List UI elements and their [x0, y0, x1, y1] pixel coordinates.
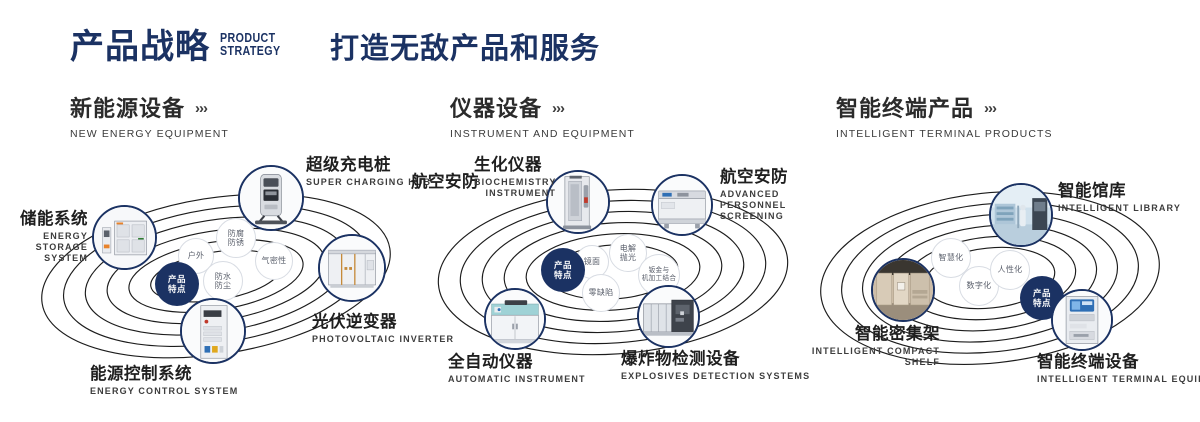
- feature-bubble-label: 防腐: [228, 229, 245, 239]
- screening-machine-icon: [653, 176, 711, 234]
- core-badge-line2: 特点: [168, 284, 186, 294]
- feature-bubble-label: 防锈: [228, 238, 245, 248]
- node-label-advanced-personnel-screening: 航空安防 ADVANCED PERSONNEL SCREENING: [720, 168, 810, 222]
- node-label-cn: 智能终端设备: [1037, 353, 1200, 372]
- section-heading-cn-2: 智能终端产品 ›››: [836, 96, 1053, 122]
- core-badge-line2: 特点: [1033, 298, 1051, 308]
- node-label-en: ENERGY STORAGE SYSTEM: [0, 231, 88, 264]
- node-intelligent-compact-shelf[interactable]: [871, 258, 935, 322]
- feature-bubble-label: 人性化: [998, 265, 1023, 275]
- chevron-right-triple-icon: ›››: [984, 96, 996, 122]
- section-heading-cn-text-2: 智能终端产品: [836, 96, 974, 122]
- cluster-intelligent-terminal: 智慧化 数字化 人性化 产品 特点: [800, 150, 1200, 412]
- feature-bubble-label: 防尘: [215, 281, 232, 291]
- feature-bubble-label: 机加工结合: [642, 275, 676, 283]
- node-label-energy-storage-system: 储能系统 ENERGY STORAGE SYSTEM: [0, 210, 88, 264]
- node-label-intelligent-terminal-equipment: 智能终端设备 INTELLIGENT TERMINAL EQUIPMENT: [1037, 353, 1200, 385]
- chevron-right-triple-icon: ›››: [195, 96, 207, 122]
- feature-bubble-zero-defect: 零缺陷: [582, 274, 620, 312]
- feature-bubble-label: 气密性: [262, 256, 287, 266]
- chevron-right-triple-icon: ›››: [552, 96, 564, 122]
- feature-bubble-label: 智慧化: [939, 253, 964, 263]
- feature-bubble-airtightness: 气密性: [255, 242, 293, 280]
- energy-storage-cabinet-icon: [94, 207, 155, 268]
- node-label-energy-control-system: 能源控制系统 ENERGY CONTROL SYSTEM: [90, 365, 238, 397]
- node-label-en: BIOCHEMISTRY INSTRUMENT: [474, 177, 556, 199]
- node-photovoltaic-inverter[interactable]: [318, 234, 386, 302]
- node-label-en: AUTOMATIC INSTRUMENT: [448, 374, 586, 385]
- node-label-cn: 爆炸物检测设备: [621, 350, 810, 369]
- core-badge-line1: 产品: [1033, 288, 1051, 298]
- node-label-intelligent-library: 智能馆库 INTELLIGENT LIBRARY: [1058, 182, 1181, 214]
- node-explosives-detection[interactable]: [637, 285, 700, 348]
- cluster-instrument: 镜面 电解 抛光 钣金与 机加工结合 零缺陷 产品 特点 航空安防: [410, 150, 810, 412]
- node-label-cn: 能源控制系统: [90, 365, 238, 384]
- section-heading-instrument: 仪器设备 ››› INSTRUMENT AND EQUIPMENT: [450, 96, 635, 140]
- core-badge-line1: 产品: [554, 260, 572, 270]
- section-heading-cn-text-0: 新能源设备: [70, 96, 185, 122]
- node-intelligent-terminal-equipment[interactable]: [1051, 289, 1113, 351]
- section-heading-en-1: INSTRUMENT AND EQUIPMENT: [450, 128, 635, 140]
- feature-bubble-label: 电解: [620, 244, 637, 254]
- page-title: 产品战略: [70, 28, 210, 66]
- section-heading-cn-0: 新能源设备 ›››: [70, 96, 229, 122]
- smart-library-room-icon: [991, 185, 1051, 245]
- inverter-cabinet-icon: [320, 236, 384, 300]
- node-label-cn: 储能系统: [0, 210, 88, 229]
- feature-bubble-label: 户外: [188, 251, 205, 261]
- node-label-intelligent-compact-shelf: 智能密集架 INTELLIGENT COMPACT SHELF: [795, 325, 940, 368]
- explosives-detector-icon: [639, 287, 698, 346]
- product-strategy-infographic: 产品战略 PRODUCT STRATEGY 打造无敌产品和服务 新能源设备 ››…: [0, 0, 1200, 422]
- node-label-automatic-instrument: 全自动仪器 AUTOMATIC INSTRUMENT: [448, 353, 586, 385]
- section-heading-intelligent-terminal: 智能终端产品 ››› INTELLIGENT TERMINAL PRODUCTS: [836, 96, 1053, 140]
- node-label-cn: 智能馆库: [1058, 182, 1181, 201]
- node-label-cn: 航空安防: [411, 173, 479, 192]
- biochemistry-scanner-icon: [548, 172, 608, 232]
- charging-pile-icon: [240, 167, 302, 229]
- page-title-english-line2: STRATEGY: [220, 44, 281, 57]
- node-label-aviation-security-left: 航空安防: [411, 173, 479, 192]
- feature-bubble-label: 防水: [215, 272, 232, 282]
- node-label-cn: 智能密集架: [795, 325, 940, 344]
- cluster-new-energy: 户外 防腐 防锈 防水 防尘 气密性 产品 特点: [20, 150, 420, 412]
- node-super-charging-hub[interactable]: [238, 165, 304, 231]
- feature-bubble-label: 镜面: [584, 257, 601, 267]
- feature-bubble-label: 抛光: [620, 253, 637, 263]
- self-service-kiosk-icon: [1053, 291, 1111, 349]
- node-label-cn: 全自动仪器: [448, 353, 586, 372]
- page-slogan: 打造无敌产品和服务: [330, 30, 600, 68]
- feature-bubble-label: 数字化: [967, 281, 992, 291]
- control-cabinet-icon: [182, 300, 244, 362]
- compact-shelf-icon: [873, 260, 933, 320]
- node-label-en: EXPLOSIVES DETECTION SYSTEMS: [621, 371, 810, 382]
- node-label-cn: 生化仪器: [474, 156, 556, 175]
- node-intelligent-library[interactable]: [989, 183, 1053, 247]
- section-heading-new-energy: 新能源设备 ››› NEW ENERGY EQUIPMENT: [70, 96, 229, 140]
- node-automatic-instrument[interactable]: [484, 288, 546, 350]
- automatic-analyzer-icon: [486, 290, 544, 348]
- section-heading-en-0: NEW ENERGY EQUIPMENT: [70, 128, 229, 140]
- node-label-en: ENERGY CONTROL SYSTEM: [90, 386, 238, 397]
- page-header: 产品战略 PRODUCT STRATEGY: [70, 28, 294, 66]
- feature-bubble-waterproof: 防水 防尘: [203, 261, 243, 301]
- section-heading-en-2: INTELLIGENT TERMINAL PRODUCTS: [836, 128, 1053, 140]
- node-advanced-personnel-screening[interactable]: [651, 174, 713, 236]
- node-label-explosives-detection: 爆炸物检测设备 EXPLOSIVES DETECTION SYSTEMS: [621, 350, 810, 382]
- page-title-english: PRODUCT STRATEGY: [220, 31, 281, 57]
- node-label-en: ADVANCED PERSONNEL SCREENING: [720, 189, 810, 222]
- node-label-en: INTELLIGENT LIBRARY: [1058, 203, 1181, 214]
- core-badge-line1: 产品: [168, 274, 186, 284]
- node-label-en: INTELLIGENT COMPACT SHELF: [795, 346, 940, 368]
- node-energy-control-system[interactable]: [180, 298, 246, 364]
- section-heading-cn-text-1: 仪器设备: [450, 96, 542, 122]
- node-label-biochemistry-instrument: 生化仪器 BIOCHEMISTRY INSTRUMENT: [474, 156, 556, 199]
- node-energy-storage-system[interactable]: [92, 205, 157, 270]
- section-heading-cn-1: 仪器设备 ›››: [450, 96, 635, 122]
- feature-bubble-label: 零缺陷: [589, 288, 614, 298]
- feature-bubble-label: 钣金与: [649, 267, 670, 275]
- core-badge-product-features: 产品 特点: [541, 248, 585, 292]
- core-badge-line2: 特点: [554, 270, 572, 280]
- node-label-cn: 航空安防: [720, 168, 810, 187]
- node-label-en: INTELLIGENT TERMINAL EQUIPMENT: [1037, 374, 1200, 385]
